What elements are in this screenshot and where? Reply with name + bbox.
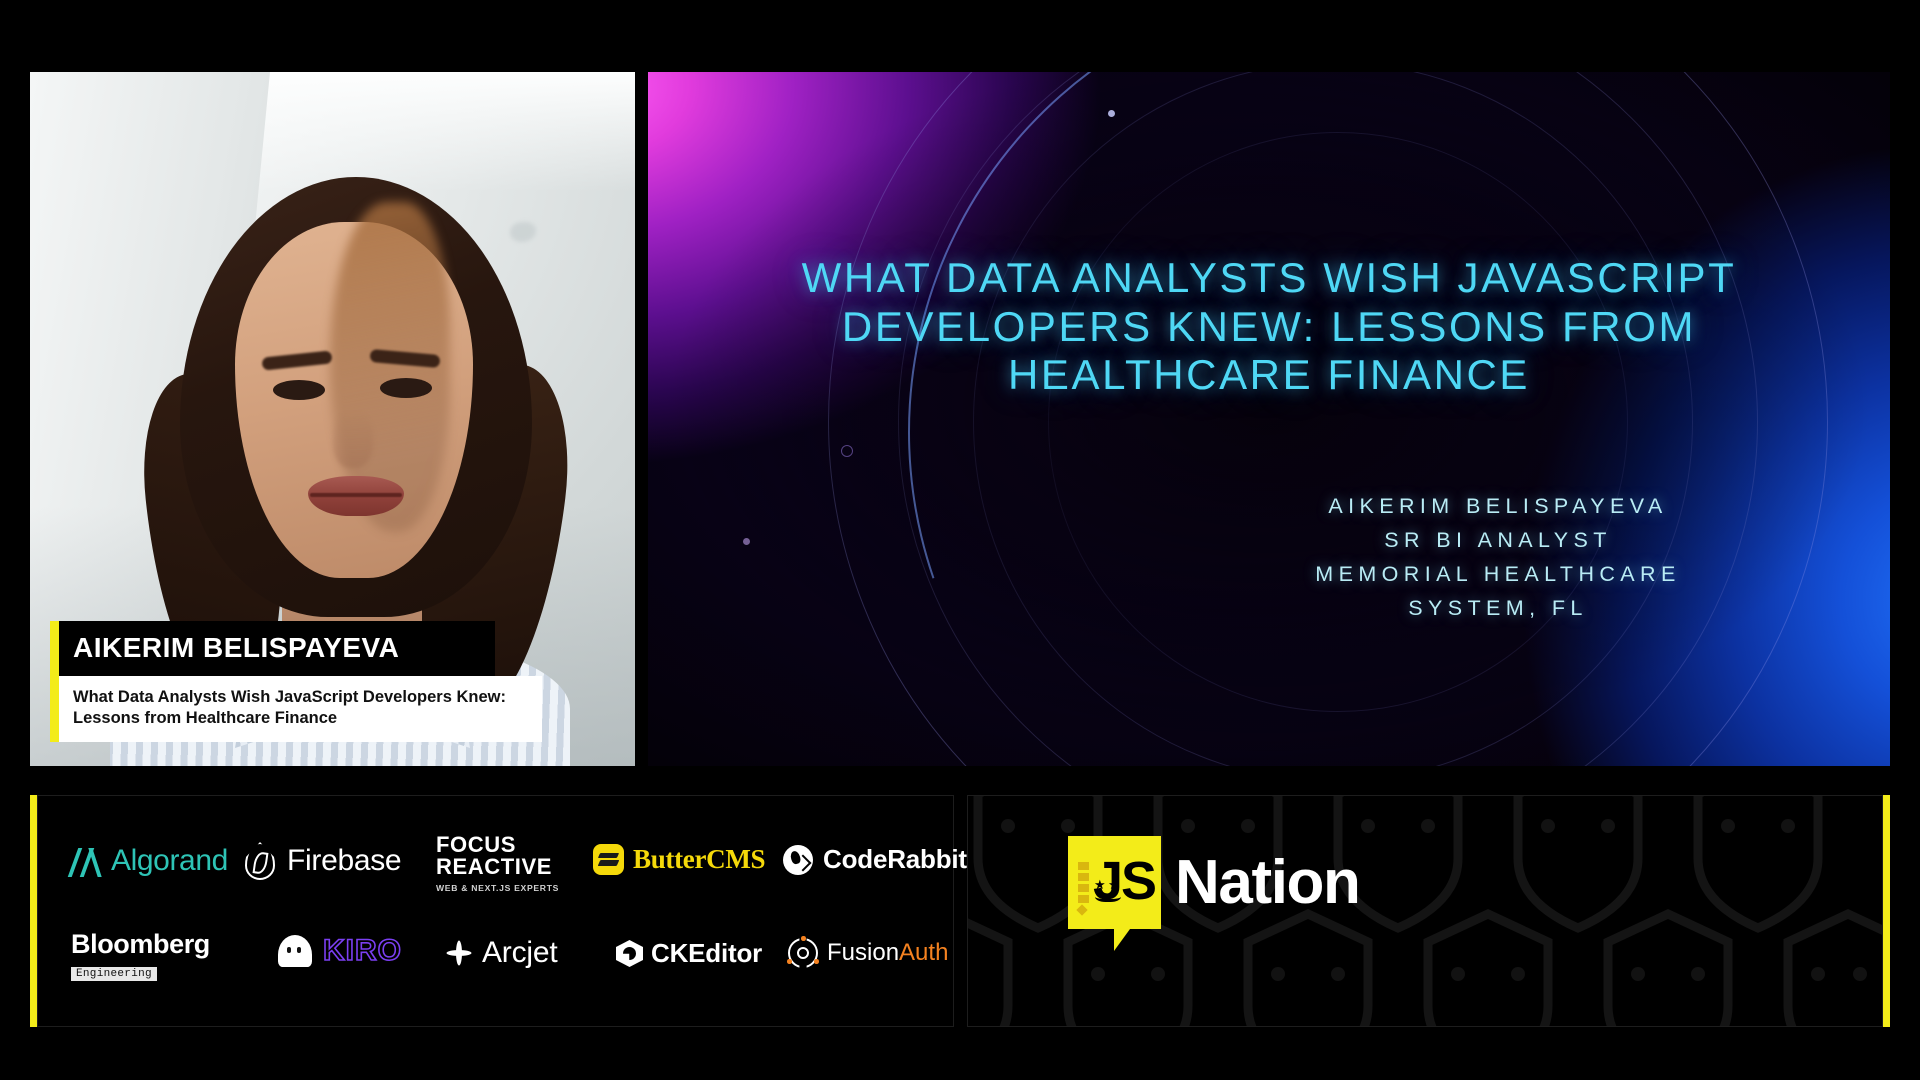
slide-title: WHAT DATA ANALYSTS WISH JAVASCRIPT DEVEL… (698, 254, 1840, 400)
slide-speaker-lines: AIKERIM BELISPAYEVA SR BI ANALYST MEMORI… (1315, 494, 1680, 620)
slide-dot-3 (743, 538, 750, 545)
sponsor-algorand[interactable]: Algorand (71, 844, 228, 878)
algorand-label: Algorand (111, 844, 228, 878)
jsnation-bubble-tail (1114, 929, 1130, 951)
coderabbit-icon (783, 845, 813, 875)
sponsor-accent-bar-right (1883, 795, 1890, 1027)
kiro-label: KIRO (323, 934, 402, 968)
brand-panel: ★★ JS Nation (967, 795, 1883, 1027)
sponsor-focus-reactive[interactable]: FOCUS REACTIVE WEB & NEXT.JS EXPERTS (436, 834, 559, 893)
jsnation-logo-mark: ★★ JS (1068, 836, 1161, 929)
lower-third-accent-bar (50, 621, 59, 742)
fusionauth-icon (788, 938, 818, 968)
sponsor-accent-bar-left (30, 795, 37, 1027)
sponsor-coderabbit[interactable]: CodeRabbit (783, 844, 967, 875)
video-row: AIKERIM BELISPAYEVA What Data Analysts W… (0, 72, 1920, 766)
sponsor-ckeditor[interactable]: CKEditor (616, 938, 762, 969)
speaker-eye-right (380, 378, 432, 398)
focus-reactive-line2: REACTIVE (436, 856, 552, 878)
jsnation-bars-icon (1078, 862, 1090, 914)
sponsor-logos-panel: Algorand Firebase FOCUS REACTIVE WEB & N… (37, 795, 954, 1027)
speaker-name: AIKERIM BELISPAYEVA (50, 621, 495, 676)
slide-dot-2 (841, 445, 853, 457)
sponsor-fusionauth[interactable]: Fusion Auth (788, 938, 948, 968)
sponsor-buttercms[interactable]: ButterCMS (593, 844, 765, 875)
butter-stack-icon (593, 844, 624, 875)
bloomberg-engineering-badge: Engineering (71, 967, 157, 981)
speaker-nose (333, 412, 373, 468)
ckeditor-icon (616, 940, 643, 967)
coderabbit-label: CodeRabbit (823, 844, 967, 875)
sponsor-arcjet[interactable]: Arcjet (446, 936, 558, 970)
lower-third: AIKERIM BELISPAYEVA What Data Analysts W… (50, 621, 542, 742)
slide-speaker-info: AIKERIM BELISPAYEVA SR BI ANALYST MEMORI… (1168, 490, 1828, 626)
presentation-slide[interactable]: WHAT DATA ANALYSTS WISH JAVASCRIPT DEVEL… (648, 72, 1890, 766)
slide-dot-1 (1108, 110, 1115, 117)
arcjet-label: Arcjet (482, 936, 558, 970)
jsnation-word: Nation (1175, 847, 1359, 918)
firebase-label: Firebase (287, 844, 401, 878)
algorand-icon (71, 844, 105, 878)
bloomberg-label: Bloomberg (71, 929, 210, 960)
arcjet-sparkle-icon (446, 940, 472, 966)
fusionauth-label-fusion: Fusion (827, 939, 899, 967)
sponsor-kiro[interactable]: KIRO (278, 934, 402, 968)
jsnation-logo[interactable]: ★★ JS Nation (1068, 836, 1359, 929)
talk-subtitle: What Data Analysts Wish JavaScript Devel… (50, 676, 542, 742)
sponsor-firebase[interactable]: Firebase (243, 842, 401, 880)
speaker-lip-line (310, 493, 402, 497)
ckeditor-label: CKEditor (651, 938, 762, 969)
sponsor-bloomberg[interactable]: Bloomberg Engineering (71, 929, 210, 981)
jsnation-js-text: JS (1093, 854, 1155, 908)
speaker-eye-left (273, 380, 325, 400)
focus-reactive-tagline: WEB & NEXT.JS EXPERTS (436, 883, 559, 893)
firebase-flame-icon (243, 842, 277, 880)
focus-reactive-line1: FOCUS (436, 834, 516, 856)
fusionauth-label-auth: Auth (899, 939, 948, 967)
buttercms-label: ButterCMS (633, 844, 765, 875)
sponsor-row: Algorand Firebase FOCUS REACTIVE WEB & N… (0, 795, 1920, 1060)
stream-layout: AIKERIM BELISPAYEVA What Data Analysts W… (0, 0, 1920, 1080)
kiro-ghost-icon (278, 935, 312, 967)
